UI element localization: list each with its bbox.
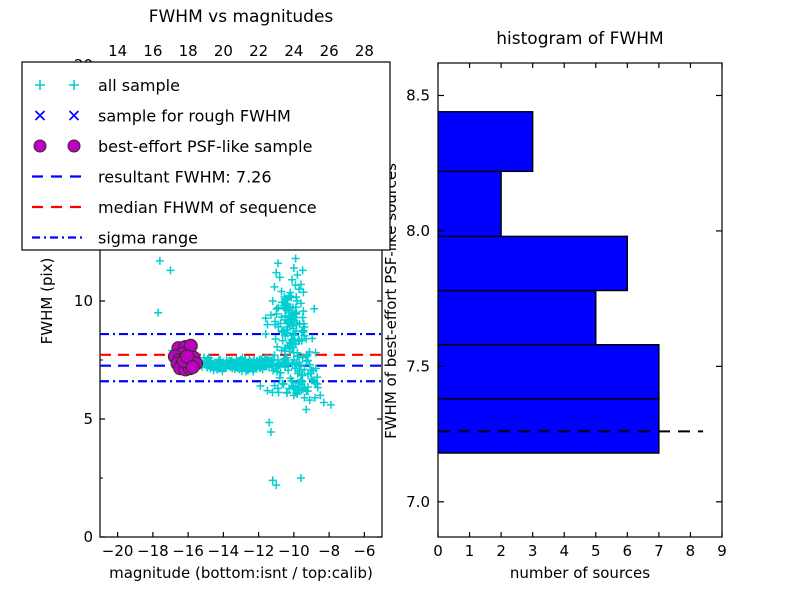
left-ytick-label: 0 <box>83 528 93 546</box>
left-xtick-label-bottom: −14 <box>208 542 240 560</box>
right-xtick-label: 5 <box>591 542 601 560</box>
figure-canvas: −20−18−16−14−12−10−8−6141618202224262805… <box>0 0 800 600</box>
left-xtick-label-top: 14 <box>108 42 127 60</box>
legend-entry-label: sample for rough FWHM <box>98 107 291 126</box>
left-xtick-label-top: 16 <box>143 42 162 60</box>
right-panel-title: histogram of FWHM <box>496 29 663 49</box>
left-yaxis-label: FWHM (pix) <box>38 258 56 345</box>
histogram-bar <box>438 291 596 345</box>
right-xaxis-label: number of sources <box>510 564 650 582</box>
left-xtick-label-top: 28 <box>355 42 374 60</box>
left-ytick-label: 10 <box>74 292 93 310</box>
left-xtick-label-top: 18 <box>179 42 198 60</box>
left-xtick-label-bottom: −12 <box>243 542 275 560</box>
plot-svg: −20−18−16−14−12−10−8−6141618202224262805… <box>0 0 800 600</box>
right-xtick-label: 6 <box>623 542 633 560</box>
legend-circle-icon <box>68 140 80 152</box>
histogram-bar <box>438 236 627 290</box>
left-panel: −20−18−16−14−12−10−8−6141618202224262805… <box>22 7 400 582</box>
right-xtick-label: 8 <box>686 542 696 560</box>
psf-sample-points <box>168 339 202 376</box>
left-xtick-label-bottom: −20 <box>102 542 134 560</box>
legend-circle-icon <box>34 140 46 152</box>
left-xtick-label-bottom: −18 <box>137 542 169 560</box>
right-xtick-label: 3 <box>528 542 538 560</box>
left-xtick-label-top: 24 <box>284 42 303 60</box>
left-xtick-label-bottom: −6 <box>353 542 375 560</box>
left-xaxis-label: magnitude (bottom:isnt / top:calib) <box>109 564 373 582</box>
legend-frame <box>22 62 390 250</box>
right-panel: 01234567897.07.58.08.5histogram of FWHMn… <box>406 29 727 582</box>
histogram-bar <box>438 171 501 236</box>
right-ytick-label: 8.5 <box>406 87 430 105</box>
histogram-bar <box>438 112 533 172</box>
right-xtick-label: 0 <box>433 542 443 560</box>
legend-box: all samplesample for rough FWHMbest-effo… <box>22 62 390 250</box>
left-xtick-label-top: 26 <box>320 42 339 60</box>
right-xtick-label: 2 <box>496 542 506 560</box>
left-xtick-label-bottom: −8 <box>318 542 340 560</box>
histogram-bar <box>438 399 659 453</box>
left-xtick-label-top: 22 <box>249 42 268 60</box>
histogram-bar <box>438 345 659 399</box>
right-ytick-label: 8.0 <box>406 222 430 240</box>
legend-entry-label: all sample <box>98 76 180 95</box>
right-ytick-label: 7.5 <box>406 357 430 375</box>
right-ytick-label: 7.0 <box>406 493 430 511</box>
left-xtick-label-top: 20 <box>214 42 233 60</box>
right-xtick-label: 4 <box>559 542 569 560</box>
left-ytick-label: 5 <box>83 410 93 428</box>
left-xtick-label-bottom: −16 <box>172 542 204 560</box>
left-panel-title: FWHM vs magnitudes <box>149 7 334 27</box>
legend-entry-label: best-effort PSF-like sample <box>98 137 312 156</box>
legend-entry-label: median FHWM of sequence <box>98 198 317 217</box>
psf-circle-marker <box>186 361 199 374</box>
legend-entry-label: sigma range <box>98 229 198 248</box>
legend-entry-label: resultant FWHM: 7.26 <box>98 168 272 187</box>
right-xtick-label: 9 <box>717 542 727 560</box>
right-xtick-label: 7 <box>654 542 664 560</box>
left-xtick-label-bottom: −10 <box>278 542 310 560</box>
right-xtick-label: 1 <box>465 542 475 560</box>
